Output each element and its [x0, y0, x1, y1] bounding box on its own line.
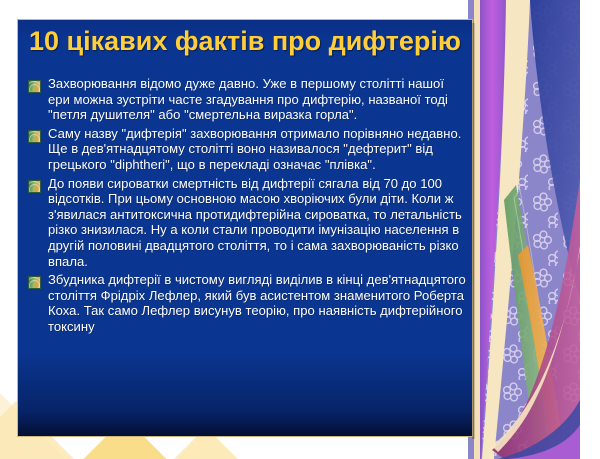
decorative-square-bullet-icon: [28, 180, 41, 193]
bullet-text: Захворювання відомо дуже давно. Уже в пе…: [48, 76, 466, 123]
decorative-side-band: [468, 0, 580, 459]
decorative-square-bullet-icon: [28, 276, 41, 289]
band-artwork: [468, 0, 580, 459]
bullet-list: Захворювання відомо дуже давно. Уже в пе…: [24, 76, 466, 338]
list-item: До появи сироватки смертність від дифтер…: [24, 176, 466, 270]
bullet-text: До появи сироватки смертність від дифтер…: [48, 176, 466, 270]
decorative-square-bullet-icon: [28, 130, 41, 143]
list-item: Саму назву "дифтерія" захворювання отрим…: [24, 126, 466, 173]
list-item: Збудника дифтерії в чистому вигляді виді…: [24, 272, 466, 334]
content-panel: 10 цікавих фактів про дифтерію Захворюва…: [17, 19, 473, 437]
bullet-text: Збудника дифтерії в чистому вигляді виді…: [48, 272, 466, 334]
decorative-square-bullet-icon: [28, 80, 41, 93]
list-item: Захворювання відомо дуже давно. Уже в пе…: [24, 76, 466, 123]
bullet-text: Саму назву "дифтерія" захворювання отрим…: [48, 126, 466, 173]
page-title: 10 цікавих фактів про дифтерію: [18, 26, 472, 57]
slide-canvas: 10 цікавих фактів про дифтерію Захворюва…: [0, 0, 600, 459]
